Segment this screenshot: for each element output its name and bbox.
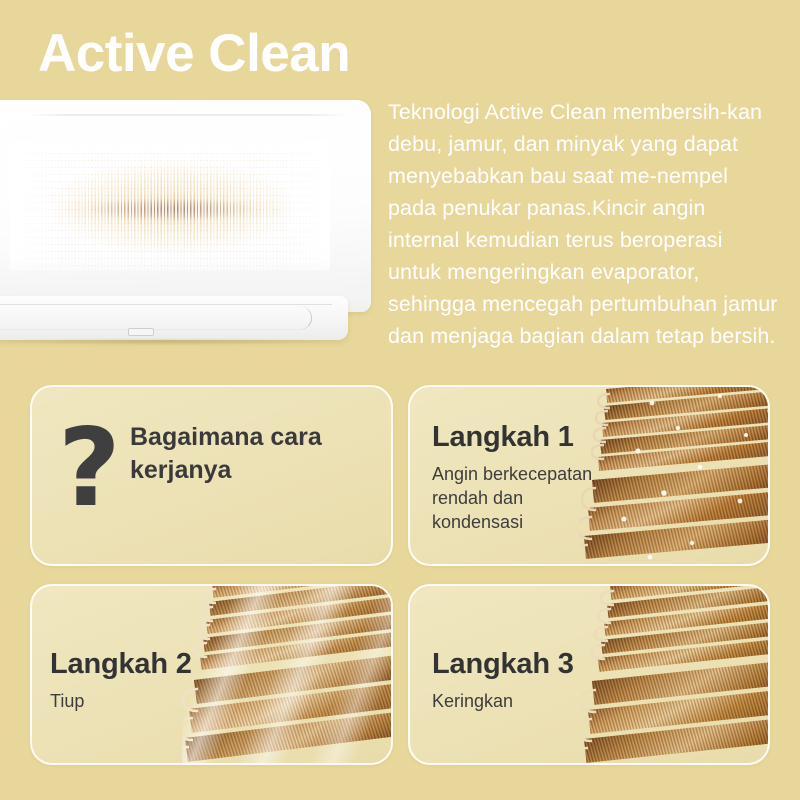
- heat-exchanger-coil-icon: [182, 584, 393, 765]
- question-mark-icon: ?: [58, 413, 130, 533]
- ac-air-outlet-vent: [0, 296, 348, 340]
- ac-grille: [10, 140, 330, 270]
- card-step-1-title: Langkah 1: [432, 421, 574, 454]
- card-step-2-title: Langkah 2: [50, 648, 192, 681]
- air-conditioner-illustration: [0, 100, 374, 362]
- card-step-1[interactable]: Langkah 1 Angin berkecepatan rendah dan …: [408, 385, 770, 566]
- ac-top-seam: [26, 114, 347, 116]
- heat-exchanger-coil-icon: [582, 584, 770, 765]
- card-step-2-description: Tiup: [50, 689, 220, 713]
- heat-exchanger-coil-icon: [580, 385, 770, 566]
- airflow-streaks: [182, 584, 393, 765]
- card-how-it-works[interactable]: ? Bagaimana cara kerjanya: [30, 385, 393, 566]
- active-clean-infographic: Active Clean Teknologi Active Clean memb…: [0, 0, 800, 800]
- ac-vent-seam: [0, 304, 332, 305]
- card-step-3-description: Keringkan: [432, 689, 602, 713]
- card-step-1-description: Angin berkecepatan rendah dan kondensasi: [432, 462, 602, 534]
- ac-drop-shadow: [0, 338, 340, 345]
- card-step-3-title: Langkah 3: [432, 648, 574, 681]
- page-title: Active Clean: [38, 24, 350, 85]
- ac-display-indicator: [128, 328, 154, 336]
- ac-grille-fade: [10, 140, 330, 270]
- hero-paragraph: Teknologi Active Clean membersih-kan deb…: [388, 96, 778, 352]
- ac-vent-flap: [0, 306, 312, 330]
- ac-body: [0, 100, 371, 312]
- card-step-3[interactable]: Langkah 3 Keringkan: [408, 584, 770, 765]
- card-step-2[interactable]: Langkah 2 Tiup: [30, 584, 393, 765]
- card-how-it-works-title: Bagaimana cara kerjanya: [130, 421, 370, 487]
